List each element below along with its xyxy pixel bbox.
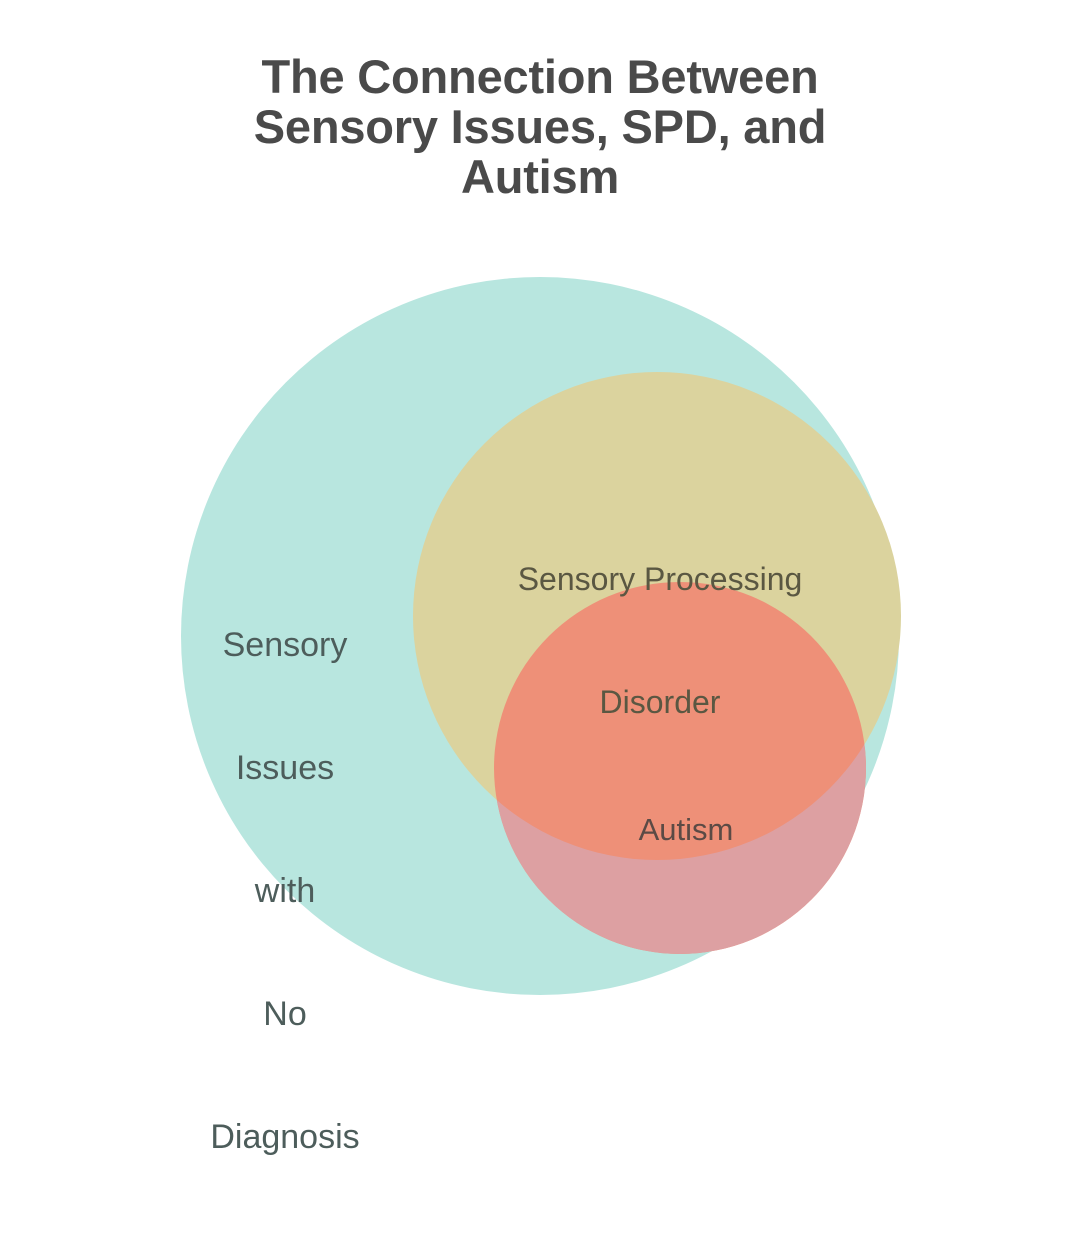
label-autism: Autism bbox=[570, 735, 802, 925]
label-spd-line-2: Disorder bbox=[450, 682, 870, 723]
venn-infographic: The Connection Between Sensory Issues, S… bbox=[0, 0, 1080, 1080]
label-sensory-issues-line-4: No bbox=[173, 994, 397, 1035]
label-spd-line-1: Sensory Processing bbox=[450, 559, 870, 600]
label-autism-line-1: Autism bbox=[570, 811, 802, 849]
label-sensory-issues-line-3: with bbox=[173, 871, 397, 912]
label-sensory-issues-line-1: Sensory bbox=[173, 625, 397, 666]
label-sensory-issues-line-5: Diagnosis bbox=[173, 1117, 397, 1158]
label-sensory-issues-line-2: Issues bbox=[173, 748, 397, 789]
label-sensory-issues: Sensory Issues with No Diagnosis bbox=[173, 543, 397, 1240]
